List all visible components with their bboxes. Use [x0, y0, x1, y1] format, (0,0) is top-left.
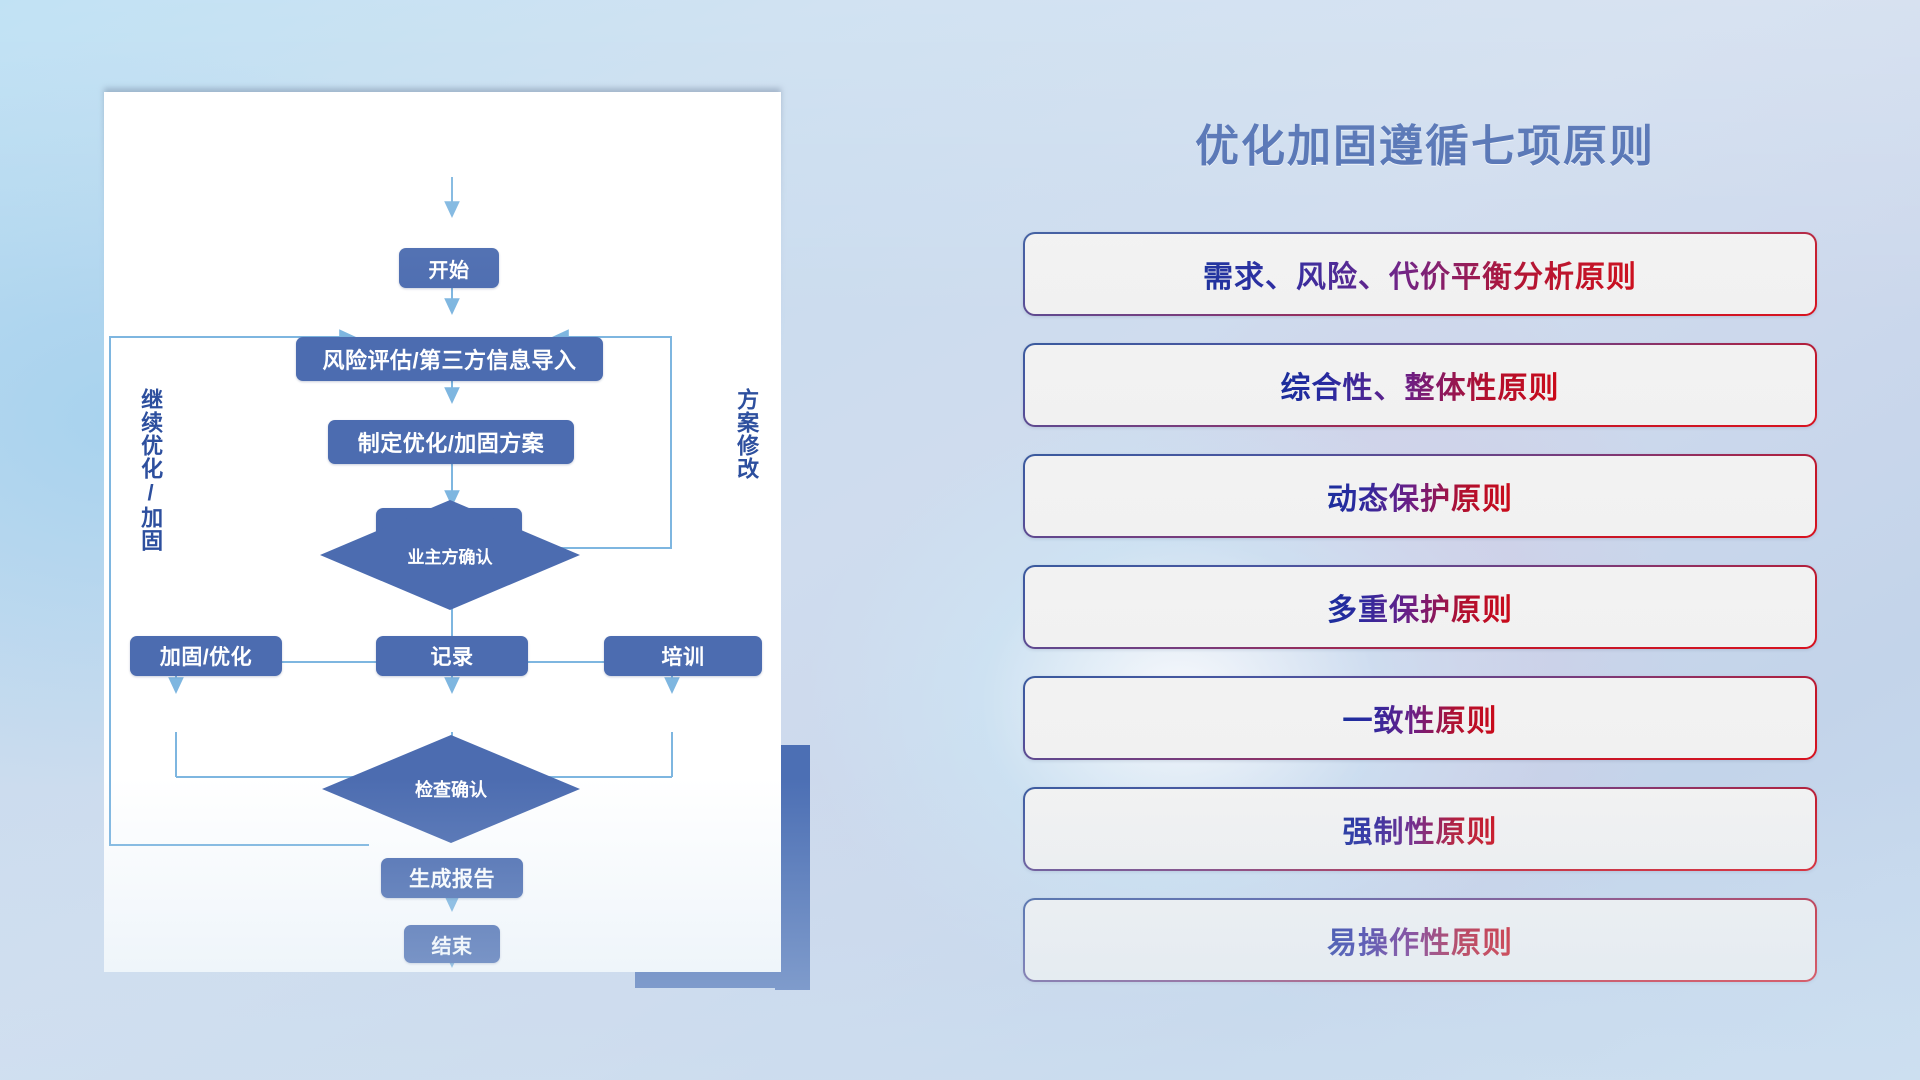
flow-node-label: 检查确认: [415, 776, 487, 802]
flow-node-label: 制定优化/加固方案: [358, 426, 545, 458]
principle-card-4[interactable]: 多重保护原则: [1023, 565, 1817, 649]
flow-node-record[interactable]: 记录: [376, 636, 528, 676]
principle-label: 易操作性原则: [1327, 918, 1513, 962]
principle-card-1[interactable]: 需求、风险、代价平衡分析原则: [1023, 232, 1817, 316]
principle-label: 强制性原则: [1343, 807, 1498, 851]
flow-node-start[interactable]: 开始: [399, 248, 499, 288]
principle-label: 需求、风险、代价平衡分析原则: [1203, 252, 1637, 296]
principle-card-6[interactable]: 强制性原则: [1023, 787, 1817, 871]
flow-node-label: 生成报告: [409, 863, 495, 893]
flow-node-label: 加固/优化: [160, 641, 252, 671]
principle-label: 动态保护原则: [1327, 474, 1513, 518]
flow-node-generate-report[interactable]: 生成报告: [381, 858, 523, 898]
principle-card-5[interactable]: 一致性原则: [1023, 676, 1817, 760]
principle-card-7[interactable]: 易操作性原则: [1023, 898, 1817, 982]
flowchart-region: 开始 风险评估/第三方信息导入 制定优化/加固方案 提交申请 业主方确认 加固/…: [0, 0, 900, 1080]
principle-card-2[interactable]: 综合性、整体性原则: [1023, 343, 1817, 427]
flow-node-end[interactable]: 结束: [404, 925, 500, 963]
edge-label-plan-revision: 方案修改: [735, 388, 758, 480]
principle-label: 一致性原则: [1343, 696, 1498, 740]
flow-node-label: 培训: [662, 641, 705, 671]
flow-node-make-plan[interactable]: 制定优化/加固方案: [328, 420, 574, 464]
flow-node-training[interactable]: 培训: [604, 636, 762, 676]
principles-region: 优化加固遵循七项原则 需求、风险、代价平衡分析原则 综合性、整体性原则 动态保护…: [1005, 0, 1920, 1080]
edge-label-continue-optimize: 继续优化/加固: [139, 388, 162, 552]
principle-card-3[interactable]: 动态保护原则: [1023, 454, 1817, 538]
flow-node-label: 记录: [431, 641, 474, 671]
flow-node-risk-assessment[interactable]: 风险评估/第三方信息导入: [296, 337, 603, 381]
slide-background: 开始 风险评估/第三方信息导入 制定优化/加固方案 提交申请 业主方确认 加固/…: [0, 0, 1920, 1080]
flow-node-label: 开始: [429, 254, 470, 283]
flow-node-label: 业主方确认: [408, 543, 493, 568]
flow-node-label: 风险评估/第三方信息导入: [322, 343, 576, 375]
flow-node-reinforce-optimize[interactable]: 加固/优化: [130, 636, 282, 676]
principle-label: 综合性、整体性原则: [1281, 363, 1560, 407]
page-title: 优化加固遵循七项原则: [1005, 110, 1845, 174]
flow-node-label: 结束: [432, 930, 473, 959]
principle-label: 多重保护原则: [1327, 585, 1513, 629]
